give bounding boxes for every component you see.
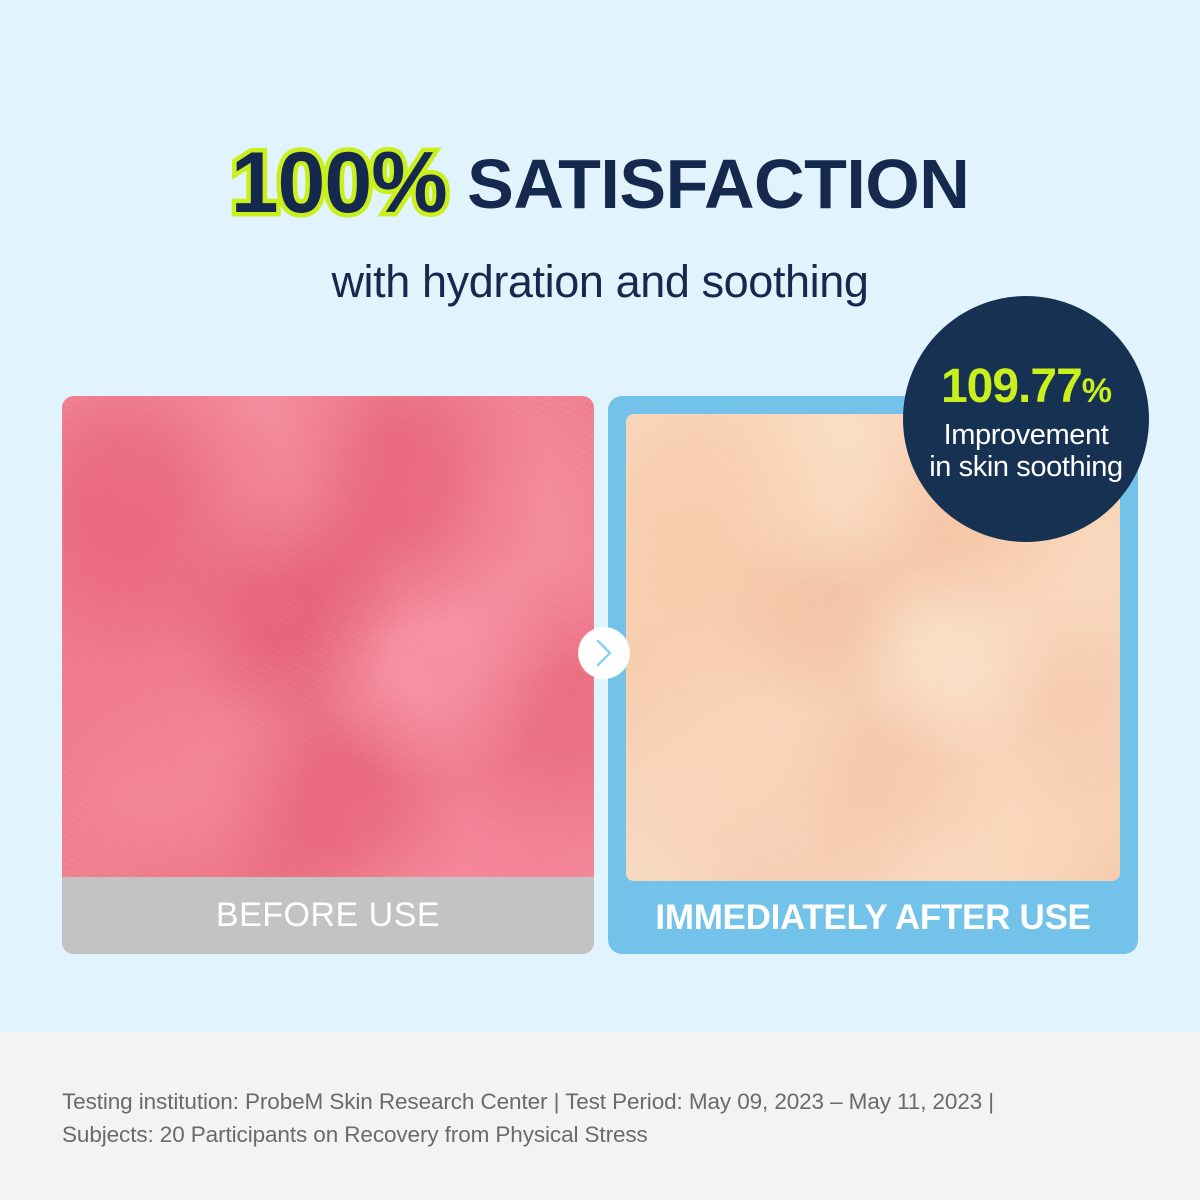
footer-line-2: Subjects: 20 Participants on Recovery fr…: [62, 1119, 1142, 1152]
badge-label-line2: in skin soothing: [929, 451, 1123, 483]
chevron-right-icon: [579, 628, 629, 678]
before-caption: BEFORE USE: [62, 877, 594, 954]
status-badge: 109.77% Improvement in skin soothing: [903, 296, 1149, 542]
badge-value-row: 109.77%: [941, 363, 1111, 411]
badge-label: Improvement in skin soothing: [929, 419, 1123, 484]
headline-word: SATISFACTION: [467, 145, 969, 223]
badge-value: 109.77: [941, 360, 1082, 413]
after-caption: IMMEDIATELY AFTER USE: [608, 881, 1138, 954]
headline: 100% SATISFACTION: [0, 136, 1200, 222]
footer-line-1: Testing institution: ProbeM Skin Researc…: [62, 1086, 1142, 1119]
badge-label-line1: Improvement: [929, 419, 1123, 451]
badge-unit: %: [1082, 372, 1111, 410]
headline-percent: 100%: [231, 135, 447, 231]
infographic-page: 100% SATISFACTION with hydration and soo…: [0, 0, 1200, 1200]
before-skin-image: [62, 396, 594, 954]
before-panel: BEFORE USE: [62, 396, 594, 954]
footer-section: Testing institution: ProbeM Skin Researc…: [0, 1032, 1200, 1200]
footer-disclaimer: Testing institution: ProbeM Skin Researc…: [62, 1086, 1142, 1151]
